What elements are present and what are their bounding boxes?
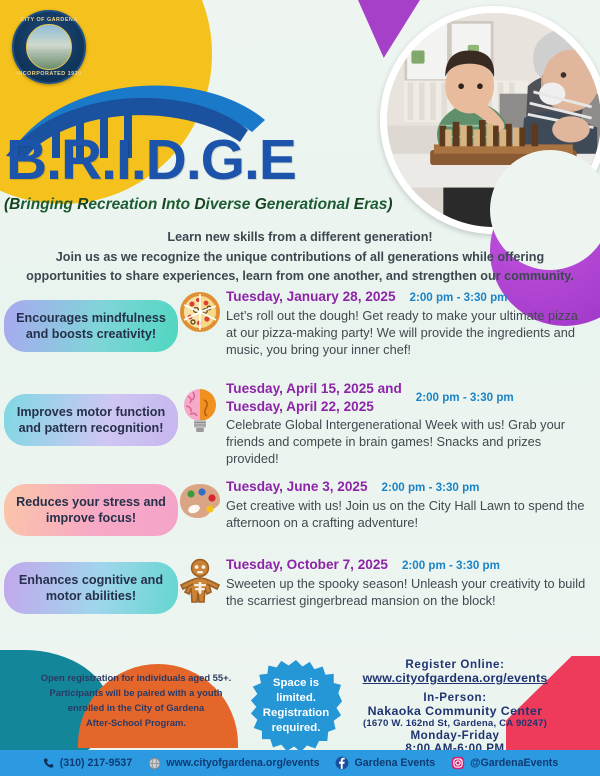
page-title: B.R.I.D.G.E — [6, 132, 296, 189]
event-time: 2:00 pm - 3:30 pm — [416, 391, 514, 404]
event-text-column: Tuesday, April 15, 2025 and Tuesday, Apr… — [226, 380, 600, 467]
event-header: Tuesday, June 3, 2025 2:00 pm - 3:30 pm — [226, 478, 592, 496]
benefit-column: Enhances cognitive and motor abilities! — [0, 556, 178, 614]
register-online-link[interactable]: www.cityofgardena.org/events — [330, 671, 580, 685]
benefit-badge: Reduces your stress and improve focus! — [4, 484, 178, 536]
benefit-column: Reduces your stress and improve focus! — [0, 478, 178, 536]
event-date: Tuesday, January 28, 2025 — [226, 288, 396, 306]
office-days: Monday-Friday — [330, 729, 580, 742]
event-list: Encourages mindfulness and boosts creati… — [0, 288, 600, 628]
benefit-column: Encourages mindfulness and boosts creati… — [0, 288, 178, 352]
registration-note-line-4: After-School Program. — [16, 715, 256, 730]
registration-note-line-3: enrolled in the City of Gardena — [16, 700, 256, 715]
website-contact[interactable]: www.cityofgardena.org/events — [148, 757, 319, 770]
in-person-heading: In-Person: — [330, 691, 580, 704]
registration-note-line-2: Participants will be paired with a youth — [16, 685, 256, 700]
benefit-badge: Improves motor function and pattern reco… — [4, 394, 178, 446]
instagram-handle: @GardenaEvents — [470, 757, 558, 769]
event-text-column: Tuesday, June 3, 2025 2:00 pm - 3:30 pm … — [226, 478, 600, 531]
intro-line-3: opportunities to share experiences, lear… — [6, 267, 594, 287]
event-description: Sweeten up the spooky season! Unleash yo… — [226, 575, 592, 609]
community-center-address: (1670 W. 162nd St, Gardena, CA 90247) — [330, 718, 580, 729]
event-text-column: Tuesday, October 7, 2025 2:00 pm - 3:30 … — [226, 556, 600, 609]
subtitle-text: (Bringing Recreation Into Diverse Genera… — [4, 196, 393, 213]
event-icon-column — [178, 478, 226, 525]
facebook-icon — [335, 756, 349, 770]
event-icon-column — [178, 288, 226, 339]
event-header: Tuesday, October 7, 2025 2:00 pm - 3:30 … — [226, 556, 592, 574]
list-item: Encourages mindfulness and boosts creati… — [0, 288, 600, 380]
event-date-secondary: Tuesday, April 22, 2025 — [226, 398, 402, 416]
pizza-icon — [178, 290, 222, 334]
registration-info: Register Online: www.cityofgardena.org/e… — [330, 658, 580, 755]
event-header: Tuesday, April 15, 2025 and Tuesday, Apr… — [226, 380, 592, 415]
registration-note-line-1: Open registration for individuals aged 5… — [16, 670, 256, 685]
event-date: Tuesday, October 7, 2025 — [226, 556, 388, 574]
contact-bar: (310) 217-9537 www.cityofgardena.org/eve… — [0, 750, 600, 776]
event-text-column: Tuesday, January 28, 2025 2:00 pm - 3:30… — [226, 288, 600, 358]
paint-palette-icon — [178, 482, 222, 520]
website-url: www.cityofgardena.org/events — [166, 757, 319, 769]
gingerbread-man-icon — [178, 558, 222, 606]
event-description: Celebrate Global Intergenerational Week … — [226, 416, 592, 467]
acronym-expansion: (Bringing Recreation Into Diverse Genera… — [4, 196, 393, 214]
event-time: 2:00 pm - 3:30 pm — [410, 291, 508, 304]
event-icon-column — [178, 380, 226, 439]
list-item: Reduces your stress and improve focus! T… — [0, 478, 600, 556]
event-header: Tuesday, January 28, 2025 2:00 pm - 3:30… — [226, 288, 592, 306]
intro-line-1: Learn new skills from a different genera… — [6, 228, 594, 248]
list-item: Enhances cognitive and motor abilities! — [0, 556, 600, 628]
flyer-page: CITY OF GARDENA INCORPORATED 1930 — [0, 0, 600, 776]
facebook-contact[interactable]: Gardena Events — [335, 756, 435, 770]
event-time: 2:00 pm - 3:30 pm — [402, 559, 500, 572]
registration-note: Open registration for individuals aged 5… — [16, 670, 256, 730]
event-description: Let’s roll out the dough! Get ready to m… — [226, 307, 592, 358]
list-item: Improves motor function and pattern reco… — [0, 380, 600, 478]
phone-number: (310) 217-9537 — [60, 757, 132, 769]
benefit-badge: Enhances cognitive and motor abilities! — [4, 562, 178, 614]
phone-icon — [42, 757, 55, 770]
seal-top-text: CITY OF GARDENA — [14, 17, 84, 23]
event-icon-column — [178, 556, 226, 611]
event-date: Tuesday, April 15, 2025 and — [226, 380, 402, 398]
event-date: Tuesday, June 3, 2025 — [226, 478, 368, 496]
phone-contact[interactable]: (310) 217-9537 — [42, 757, 132, 770]
intro-paragraph: Learn new skills from a different genera… — [0, 228, 600, 287]
facebook-handle: Gardena Events — [354, 757, 435, 769]
brain-lightbulb-icon — [178, 386, 222, 434]
globe-icon — [148, 757, 161, 770]
register-online-heading: Register Online: — [330, 658, 580, 671]
footer-section: Open registration for individuals aged 5… — [0, 648, 600, 776]
event-date-stack: Tuesday, April 15, 2025 and Tuesday, Apr… — [226, 380, 402, 415]
limited-space-badge-text: Space is limited. Registration required. — [257, 676, 335, 736]
community-center-name: Nakaoka Community Center — [330, 704, 580, 718]
benefit-column: Improves motor function and pattern reco… — [0, 380, 178, 446]
intro-line-2: Join us as we recognize the unique contr… — [6, 248, 594, 268]
benefit-badge: Encourages mindfulness and boosts creati… — [4, 300, 178, 352]
instagram-contact[interactable]: @GardenaEvents — [451, 756, 558, 770]
event-description: Get creative with us! Join us on the Cit… — [226, 497, 592, 531]
event-time: 2:00 pm - 3:30 pm — [382, 481, 480, 494]
instagram-icon — [451, 756, 465, 770]
